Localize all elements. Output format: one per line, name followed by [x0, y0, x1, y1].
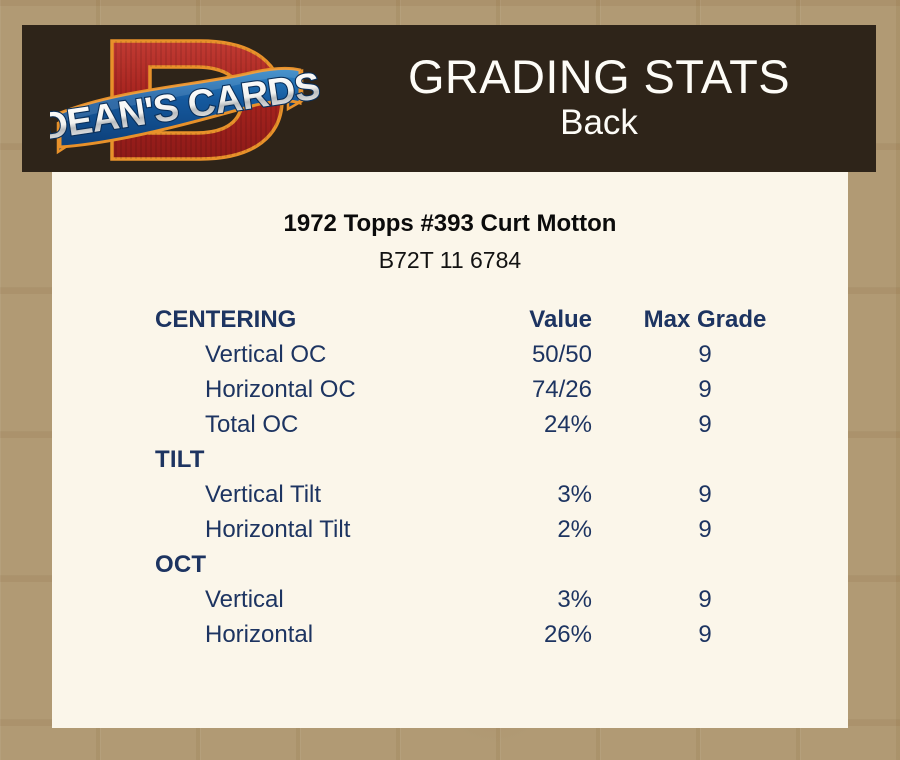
stat-max-grade: 9: [617, 477, 848, 512]
stat-label: Vertical OC: [52, 337, 442, 372]
stat-value: 3%: [442, 477, 617, 512]
deans-cards-logo[interactable]: DEAN'S CARDS: [50, 27, 320, 172]
stat-value: 3%: [442, 582, 617, 617]
table-row: Total OC24%9: [52, 407, 848, 442]
stat-label: Vertical Tilt: [52, 477, 442, 512]
section-header-spacer: [442, 547, 617, 582]
table-row: Vertical OC50/509: [52, 337, 848, 372]
stat-label: Total OC: [52, 407, 442, 442]
card-serial-number: B72T 11 6784: [52, 247, 848, 274]
stat-label: Horizontal OC: [52, 372, 442, 407]
content-panel: 1972 Topps #393 Curt Motton B72T 11 6784…: [52, 172, 848, 728]
card-title: 1972 Topps #393 Curt Motton: [52, 210, 848, 238]
section-header-row: TILT: [52, 442, 848, 477]
section-header-spacer: [442, 442, 617, 477]
header-band: DEAN'S CARDS GRADING STATS Back: [22, 25, 876, 172]
stat-max-grade: 9: [617, 617, 848, 652]
section-header-row: OCT: [52, 547, 848, 582]
stat-max-grade: 9: [617, 337, 848, 372]
section-header-label: OCT: [52, 547, 442, 582]
stat-max-grade: 9: [617, 372, 848, 407]
column-header-value: Value: [442, 302, 617, 337]
table-row: Horizontal OC74/269: [52, 372, 848, 407]
stat-max-grade: 9: [617, 512, 848, 547]
section-header-label: TILT: [52, 442, 442, 477]
table-row: Vertical Tilt3%9: [52, 477, 848, 512]
stat-value: 24%: [442, 407, 617, 442]
column-header-grade: Max Grade: [617, 302, 848, 337]
section-header-spacer: [617, 442, 848, 477]
table-row: Vertical3%9: [52, 582, 848, 617]
stat-value: 50/50: [442, 337, 617, 372]
stat-max-grade: 9: [617, 582, 848, 617]
table-row: Horizontal Tilt2%9: [52, 512, 848, 547]
page-title: GRADING STATS: [408, 53, 790, 102]
stat-value: 2%: [442, 512, 617, 547]
stat-max-grade: 9: [617, 407, 848, 442]
stat-value: 74/26: [442, 372, 617, 407]
header-titles: GRADING STATS Back: [322, 25, 876, 172]
table-header-row: CENTERINGValueMax Grade: [52, 302, 848, 337]
column-header-section: CENTERING: [52, 302, 442, 337]
grading-stats-table: CENTERINGValueMax GradeVertical OC50/509…: [52, 302, 848, 652]
table-row: Horizontal26%9: [52, 617, 848, 652]
stat-value: 26%: [442, 617, 617, 652]
stat-label: Vertical: [52, 582, 442, 617]
page-subtitle: Back: [560, 102, 638, 143]
section-header-spacer: [617, 547, 848, 582]
stat-label: Horizontal Tilt: [52, 512, 442, 547]
stat-label: Horizontal: [52, 617, 442, 652]
